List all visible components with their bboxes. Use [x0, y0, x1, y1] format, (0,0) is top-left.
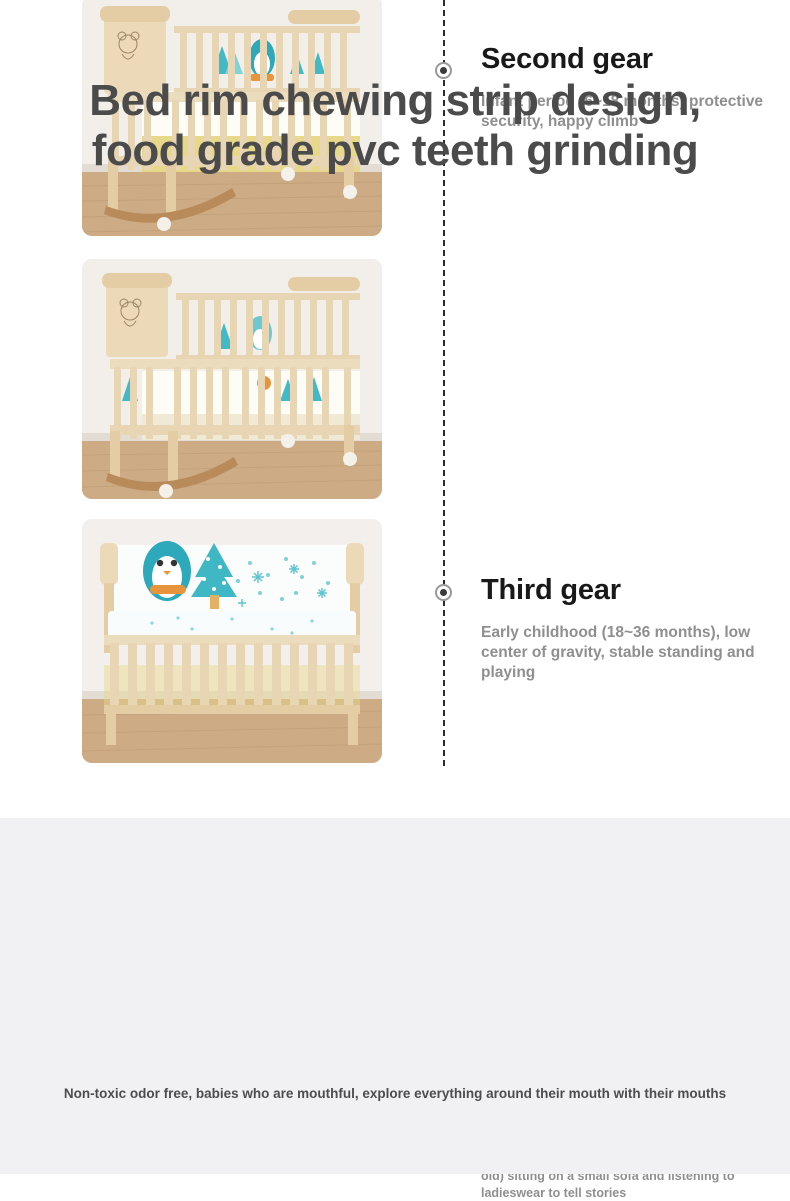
- crib-photo-third-gear[interactable]: [82, 259, 382, 499]
- feature-row: Third gear Early childhood (18~36 months…: [0, 259, 790, 499]
- crib-illustration: [82, 259, 382, 499]
- feature-row: Turn down side guardrails Growing for a …: [0, 519, 790, 763]
- promo-subtext: Non-toxic odor free, babies who are mout…: [40, 1085, 750, 1103]
- promo-heading: Bed rim chewing strip design, food grade…: [75, 76, 715, 176]
- promo-section: [0, 818, 790, 1174]
- crib-illustration: [82, 519, 382, 763]
- crib-photo-guardrails-down[interactable]: [82, 519, 382, 763]
- feature-title: Second gear: [481, 43, 776, 76]
